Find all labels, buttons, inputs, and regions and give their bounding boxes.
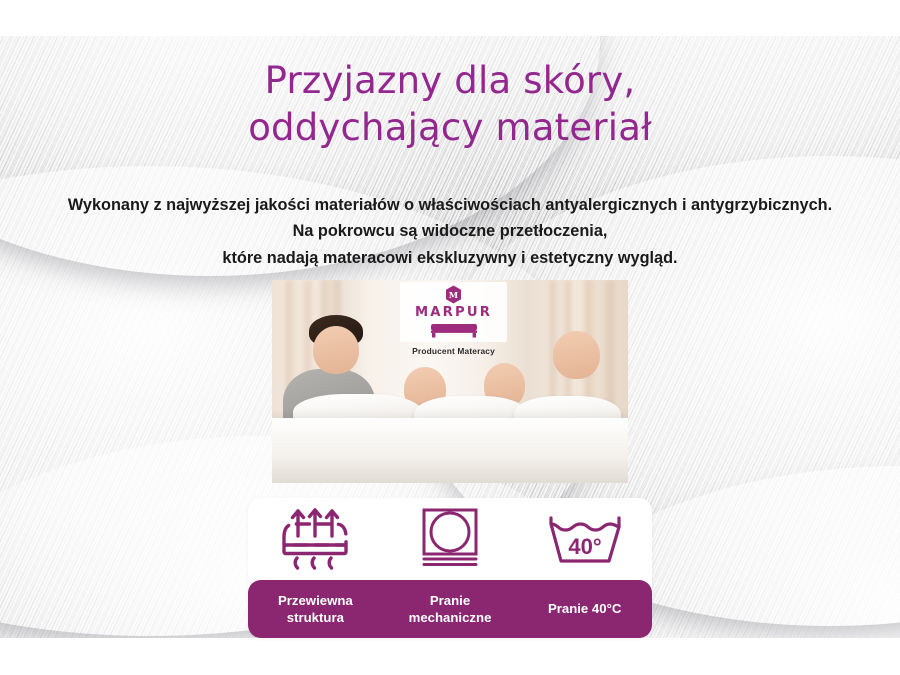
family-on-mattress-photo: M MARPUR Producent Materacy xyxy=(272,280,628,483)
description-text: Wykonany z najwyższej jakości materiałów… xyxy=(0,192,900,271)
feature-label-machine-wash-line-2: mechaniczne xyxy=(385,609,516,626)
white-mattress xyxy=(272,418,628,483)
feature-icon-breathable xyxy=(248,498,383,580)
feature-label-breathable-line-1: Przewiewna xyxy=(250,592,381,609)
hexagon-m-icon: M xyxy=(445,285,462,304)
feature-icons-row: 40° xyxy=(248,498,652,580)
feature-card: 40° Przewiewna struktura Pranie mechanic… xyxy=(248,498,652,638)
page-title-line-1: Przyjazny dla skóry, xyxy=(0,58,900,105)
bed-icon xyxy=(428,322,480,338)
wash-temperature-label: 40° xyxy=(568,534,601,559)
feature-label-wash-40: Pranie 40°C xyxy=(517,600,652,617)
logo-wordmark: MARPUR xyxy=(402,305,505,321)
hexagon-letter: M xyxy=(449,291,459,301)
description-line-2: Na pokrowcu są widoczne przetłoczenia, xyxy=(0,218,900,244)
logo-tagline: Producent Materacy xyxy=(400,346,507,356)
feature-label-machine-wash: Pranie mechaniczne xyxy=(383,592,518,627)
description-line-3: które nadają materacowi ekskluzywny i es… xyxy=(0,245,900,271)
wash-tub-40-degrees-icon: 40° xyxy=(546,511,624,567)
feature-labels-bar: Przewiewna struktura Pranie mechaniczne … xyxy=(248,580,652,638)
feature-icon-wash-40: 40° xyxy=(517,498,652,580)
feature-label-wash-40-line-1: Pranie 40°C xyxy=(519,600,650,617)
page-title-line-2: oddychający materiał xyxy=(0,105,900,152)
feature-label-breathable-line-2: struktura xyxy=(250,609,381,626)
logo-plate: M MARPUR xyxy=(400,282,507,342)
promo-page: Przyjazny dla skóry, oddychający materia… xyxy=(0,0,900,675)
mother-head xyxy=(553,331,599,380)
marpur-logo: M MARPUR Producent Materacy xyxy=(400,282,507,356)
feature-label-breathable: Przewiewna struktura xyxy=(248,592,383,627)
page-title: Przyjazny dla skóry, oddychający materia… xyxy=(0,58,900,151)
feature-label-machine-wash-line-1: Pranie xyxy=(385,592,516,609)
washing-machine-icon xyxy=(417,506,483,572)
breathable-mattress-airflow-icon xyxy=(272,506,358,572)
father-head xyxy=(313,326,359,375)
feature-icon-machine-wash xyxy=(383,498,518,580)
description-line-1: Wykonany z najwyższej jakości materiałów… xyxy=(0,192,900,218)
